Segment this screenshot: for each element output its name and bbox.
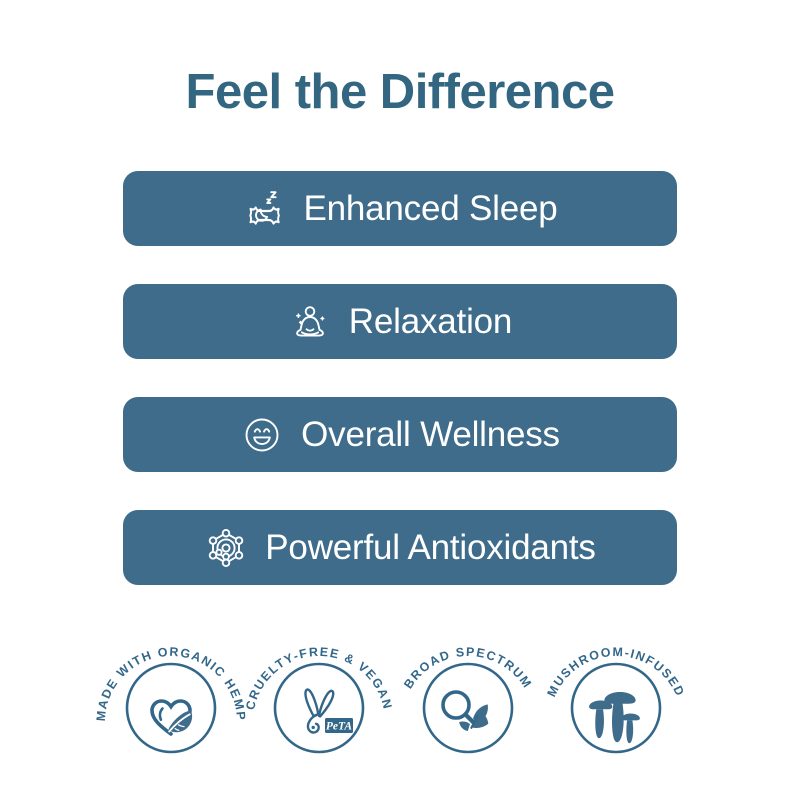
badge-label-text: CRUELTY-FREE & VEGAN bbox=[243, 645, 395, 712]
molecule-hexagon-icon bbox=[204, 526, 248, 570]
benefit-label: Relaxation bbox=[349, 302, 512, 342]
smiley-face-icon bbox=[240, 413, 284, 457]
benefit-label: Overall Wellness bbox=[301, 415, 560, 455]
benefit-pill-enhanced-sleep[interactable]: Enhanced Sleep bbox=[123, 171, 677, 246]
mushroom-cluster-icon bbox=[572, 664, 660, 752]
trust-badge-mushroom-infused: MUSHROOM-INFUSED bbox=[536, 632, 696, 787]
sleep-pillow-moon-icon bbox=[242, 187, 286, 231]
badge-label: CRUELTY-FREE & VEGAN bbox=[243, 645, 395, 712]
page-title: Feel the Difference bbox=[0, 62, 800, 122]
benefit-label: Powerful Antioxidants bbox=[265, 528, 595, 568]
peta-bunny-icon: PeTA bbox=[275, 664, 363, 752]
trust-badge-broad-spectrum: BROAD SPECTRUM bbox=[388, 632, 548, 787]
trust-badge-organic-hemp: MADE WITH ORGANIC HEMP bbox=[91, 632, 251, 787]
badge-label: MUSHROOM-INFUSED bbox=[544, 645, 687, 699]
trust-badge-cruelty-free-vegan: CRUELTY-FREE & VEGAN PeTA bbox=[239, 632, 399, 787]
badge-label-text: MUSHROOM-INFUSED bbox=[544, 645, 687, 699]
badge-label-text: BROAD SPECTRUM bbox=[401, 645, 535, 691]
badge-label-text: MADE WITH ORGANIC HEMP bbox=[94, 645, 248, 722]
trust-badges: MADE WITH ORGANIC HEMP CRUELTY-FREE & VE… bbox=[0, 632, 800, 792]
badge-label: MADE WITH ORGANIC HEMP bbox=[94, 645, 248, 722]
benefit-label: Enhanced Sleep bbox=[303, 189, 557, 229]
benefit-pill-overall-wellness[interactable]: Overall Wellness bbox=[123, 397, 677, 472]
magnifier-leaves-icon bbox=[424, 664, 512, 752]
benefit-pill-powerful-antioxidants[interactable]: Powerful Antioxidants bbox=[123, 510, 677, 585]
heart-leaf-icon bbox=[127, 664, 215, 752]
badge-label: BROAD SPECTRUM bbox=[401, 645, 535, 691]
benefits-list: Enhanced Sleep Relaxation bbox=[123, 171, 677, 623]
benefit-pill-relaxation[interactable]: Relaxation bbox=[123, 284, 677, 359]
meditation-lotus-icon bbox=[288, 300, 332, 344]
peta-mark: PeTA bbox=[326, 721, 353, 733]
